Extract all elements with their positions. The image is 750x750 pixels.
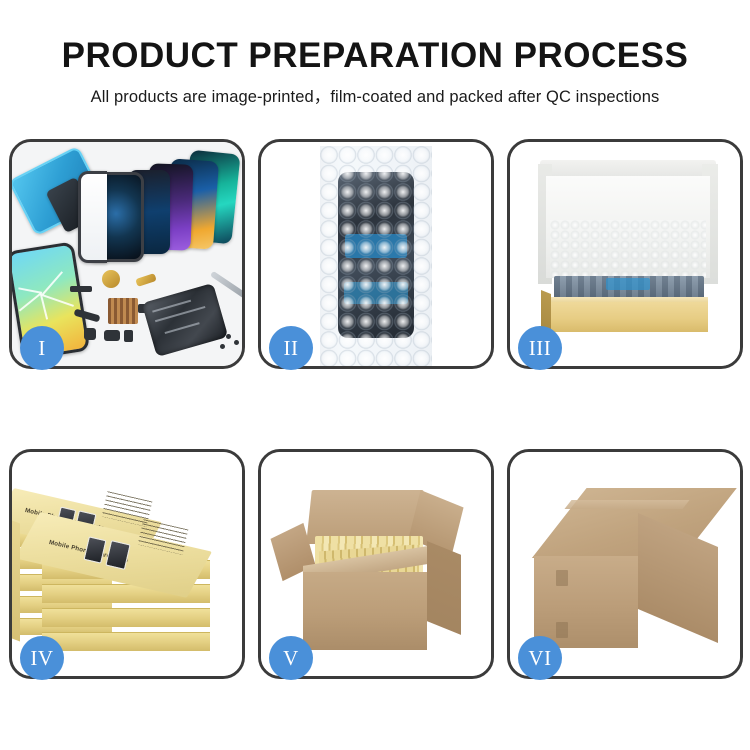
step-badge-5: V — [269, 636, 313, 680]
screw-set-image — [234, 340, 239, 345]
packing-tape-image — [564, 500, 689, 509]
process-step-panel-2: II — [258, 139, 494, 369]
foam-lining-image — [550, 220, 706, 278]
carton-front-image — [303, 572, 427, 650]
step-badge-4: IV — [20, 636, 64, 680]
carton-front-image — [534, 556, 638, 648]
carton-hand-hole-image — [556, 570, 568, 586]
sim-tray-image — [124, 330, 133, 342]
mailer-base-front-image — [548, 302, 708, 332]
spare-part-strip — [70, 286, 92, 292]
step-badge-3: III — [518, 326, 562, 370]
process-step-panel-4: Mobile Phone Spare Parts Mobile Phone Sp… — [9, 449, 245, 679]
process-step-grid: I II — [9, 139, 743, 679]
flex-connector-image — [135, 273, 156, 287]
carton-side-image — [638, 513, 718, 643]
screw-set-image — [220, 344, 225, 349]
camera-module-image — [84, 328, 96, 340]
page-title: PRODUCT PREPARATION PROCESS — [0, 0, 750, 76]
vibration-motor-image — [102, 270, 120, 288]
process-step-panel-1: I — [9, 139, 245, 369]
header: PRODUCT PREPARATION PROCESS All products… — [0, 0, 750, 107]
process-step-panel-3: III — [507, 139, 743, 369]
step-badge-6: VI — [518, 636, 562, 680]
screw-set-image — [226, 334, 231, 339]
speaker-module-image — [104, 330, 120, 341]
phone-chassis-image — [142, 283, 229, 357]
product-preparation-infographic: PRODUCT PREPARATION PROCESS All products… — [0, 0, 750, 750]
bubble-texture-image — [320, 146, 432, 366]
process-step-panel-6: VI — [507, 449, 743, 679]
step-badge-2: II — [269, 326, 313, 370]
tempered-glass-image — [78, 171, 107, 263]
carton-side-image — [427, 541, 461, 635]
process-step-panel-5: V — [258, 449, 494, 679]
blue-label-image — [606, 278, 650, 290]
carton-hand-hole-image — [556, 622, 568, 638]
ic-chip-image — [108, 298, 138, 324]
page-subtitle: All products are image-printed，film-coat… — [0, 76, 750, 107]
step-badge-1: I — [20, 326, 64, 370]
